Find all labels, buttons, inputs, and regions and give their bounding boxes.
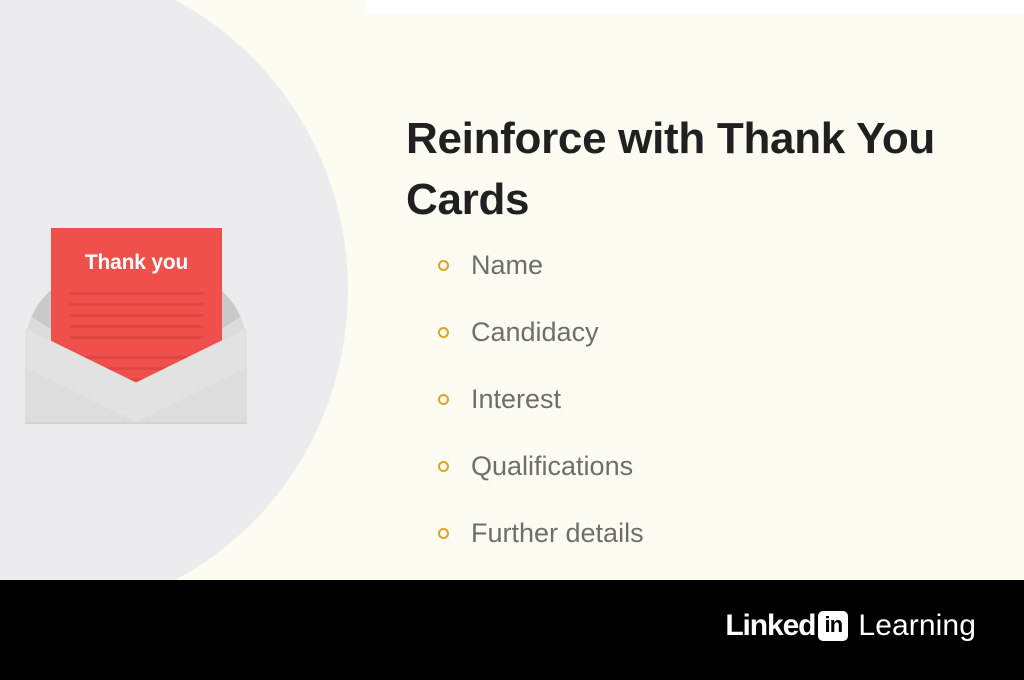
circle-bullet-icon [438,394,449,405]
logo-in-text: in [824,614,842,636]
open-envelope-illustration: Thank you [25,228,247,422]
list-item-label: Further details [471,520,644,547]
top-white-strip [365,0,1024,14]
card-text-line [69,303,204,306]
list-item: Interest [438,366,644,433]
list-item-label: Candidacy [471,319,599,346]
circle-bullet-icon [438,327,449,338]
card-text-line [69,336,204,339]
card-text-line [69,314,204,317]
logo-learning-text: Learning [858,611,976,641]
circle-bullet-icon [438,528,449,539]
list-item: Candidacy [438,299,644,366]
list-item: Qualifications [438,433,644,500]
slide-canvas: Thank you Reinforce with Thank You C [0,0,1024,680]
logo-linked-text: Linked [725,611,815,641]
logo-in-badge-icon: in [818,611,848,641]
list-item-label: Name [471,252,543,279]
thank-you-card-lines [69,292,204,347]
card-text-line [69,325,204,328]
envelope-bottom-edge [25,422,247,424]
thank-you-card: Thank you [51,228,222,356]
card-text-line [69,292,204,295]
card-text-line [69,356,204,359]
list-item: Further details [438,500,644,567]
thank-you-card-text: Thank you [51,252,222,273]
circle-bullet-icon [438,260,449,271]
circle-bullet-icon [438,461,449,472]
page-title: Reinforce with Thank You Cards [406,109,966,230]
list-item-label: Interest [471,386,561,413]
list-item-label: Qualifications [471,453,633,480]
list-item: Name [438,232,644,299]
linkedin-learning-logo: Linked in Learning [725,608,976,644]
bullet-list: Name Candidacy Interest Qualifications F… [438,232,644,567]
